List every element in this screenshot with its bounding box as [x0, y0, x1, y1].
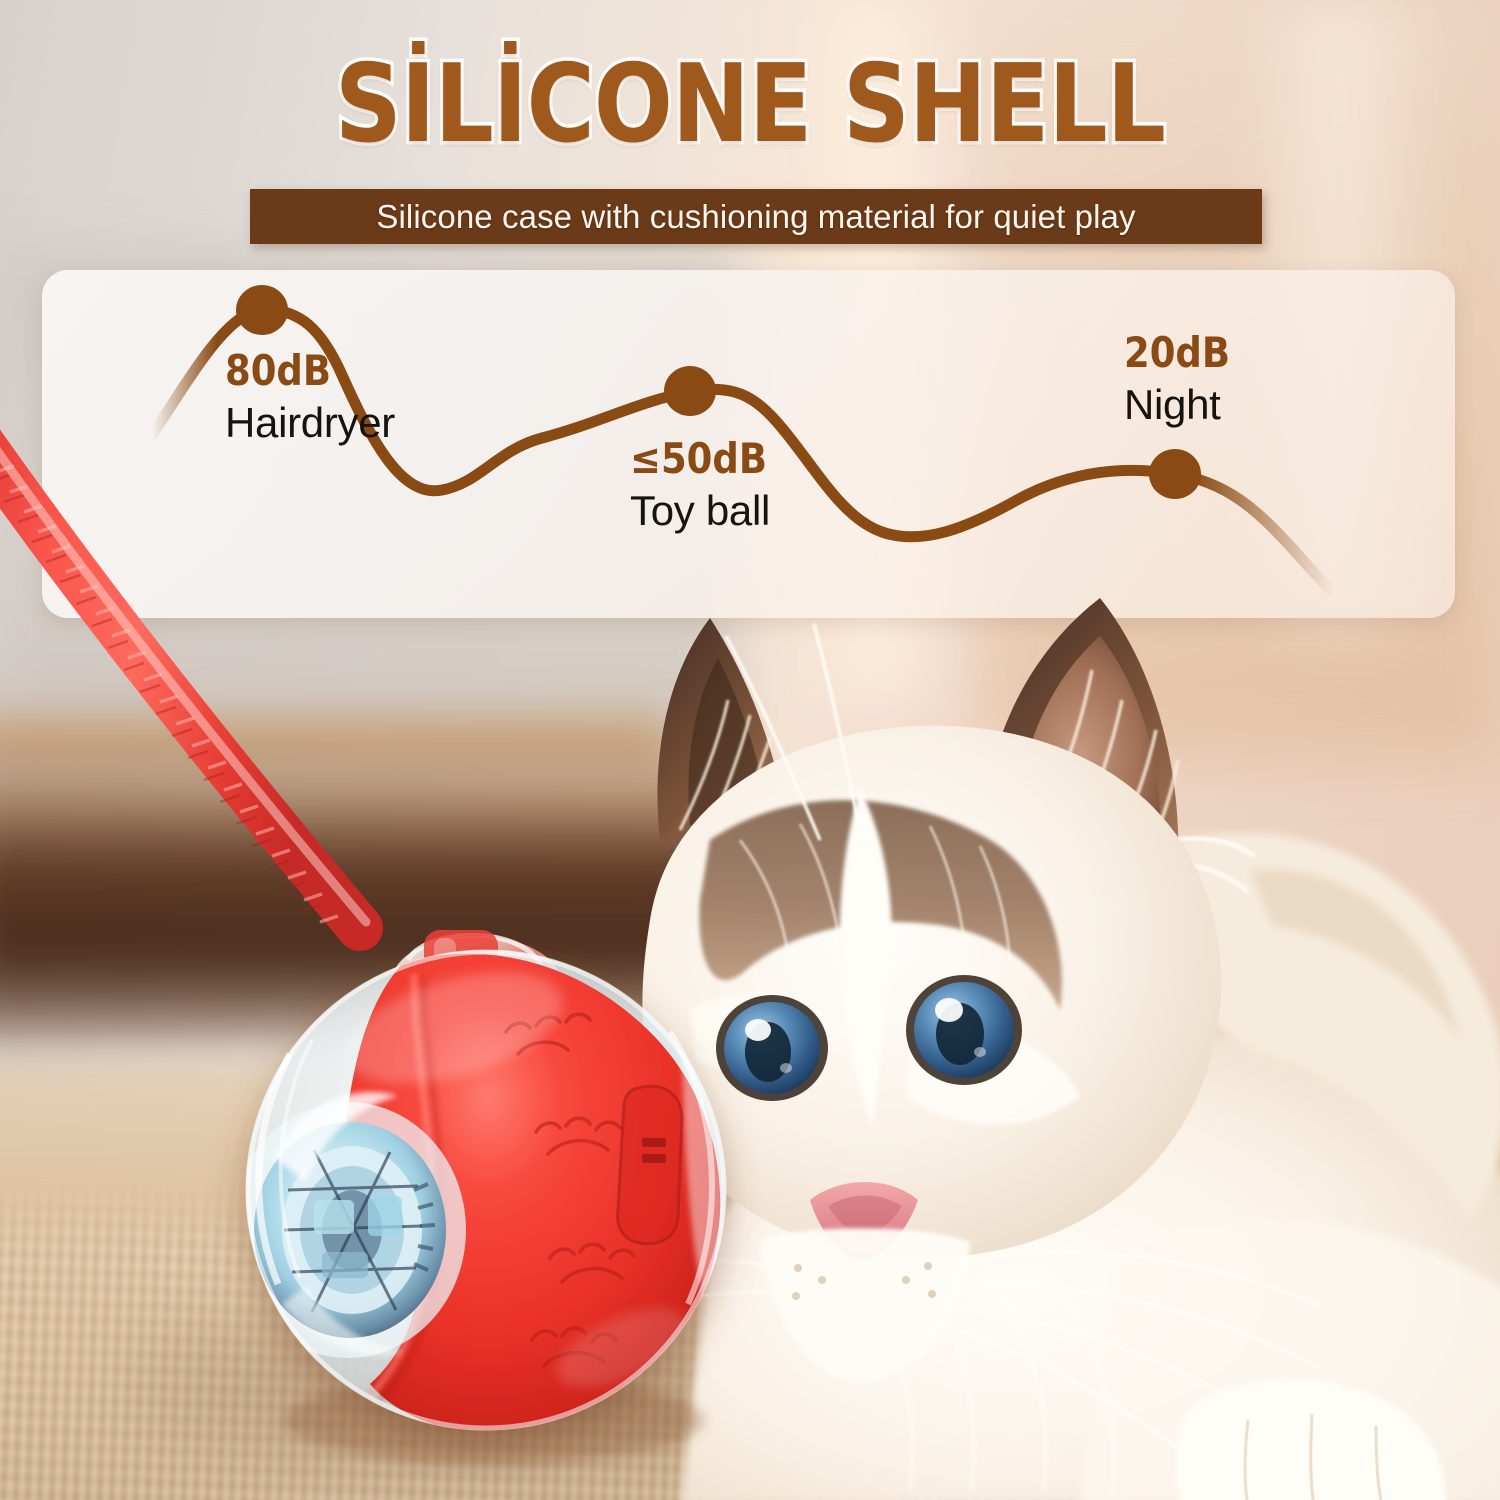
cat-eye-right — [906, 975, 1022, 1085]
chart-value-night: 20dB — [1124, 328, 1230, 377]
chart-name-hairdryer: Hairdryer — [225, 399, 395, 447]
chart-name-night: Night — [1124, 381, 1245, 429]
subtitle-banner: Silicone case with cushioning material f… — [250, 189, 1262, 244]
data-point-toyball — [664, 366, 716, 416]
ball-port-panel — [618, 1086, 682, 1243]
data-point-night — [1149, 449, 1201, 499]
cat-toy-ball — [218, 900, 758, 1460]
chart-value-toyball: ≤50dB — [630, 434, 767, 483]
chart-value-hairdryer: 80dB — [225, 346, 375, 395]
chart-name-toyball: Toy ball — [630, 487, 786, 535]
chart-label-hairdryer: 80dB Hairdryer — [225, 346, 395, 447]
page-title: SİLİCONE SHELL — [105, 48, 1395, 162]
chart-label-toyball: ≤50dB Toy ball — [630, 434, 786, 535]
ball-sphere — [230, 950, 726, 1434]
data-point-hairdryer — [236, 285, 288, 335]
chart-label-night: 20dB Night — [1124, 328, 1245, 429]
infographic-canvas: SİLİCONE SHELL Silicone case with cushio… — [0, 0, 1500, 1500]
subtitle-text: Silicone case with cushioning material f… — [376, 198, 1135, 236]
